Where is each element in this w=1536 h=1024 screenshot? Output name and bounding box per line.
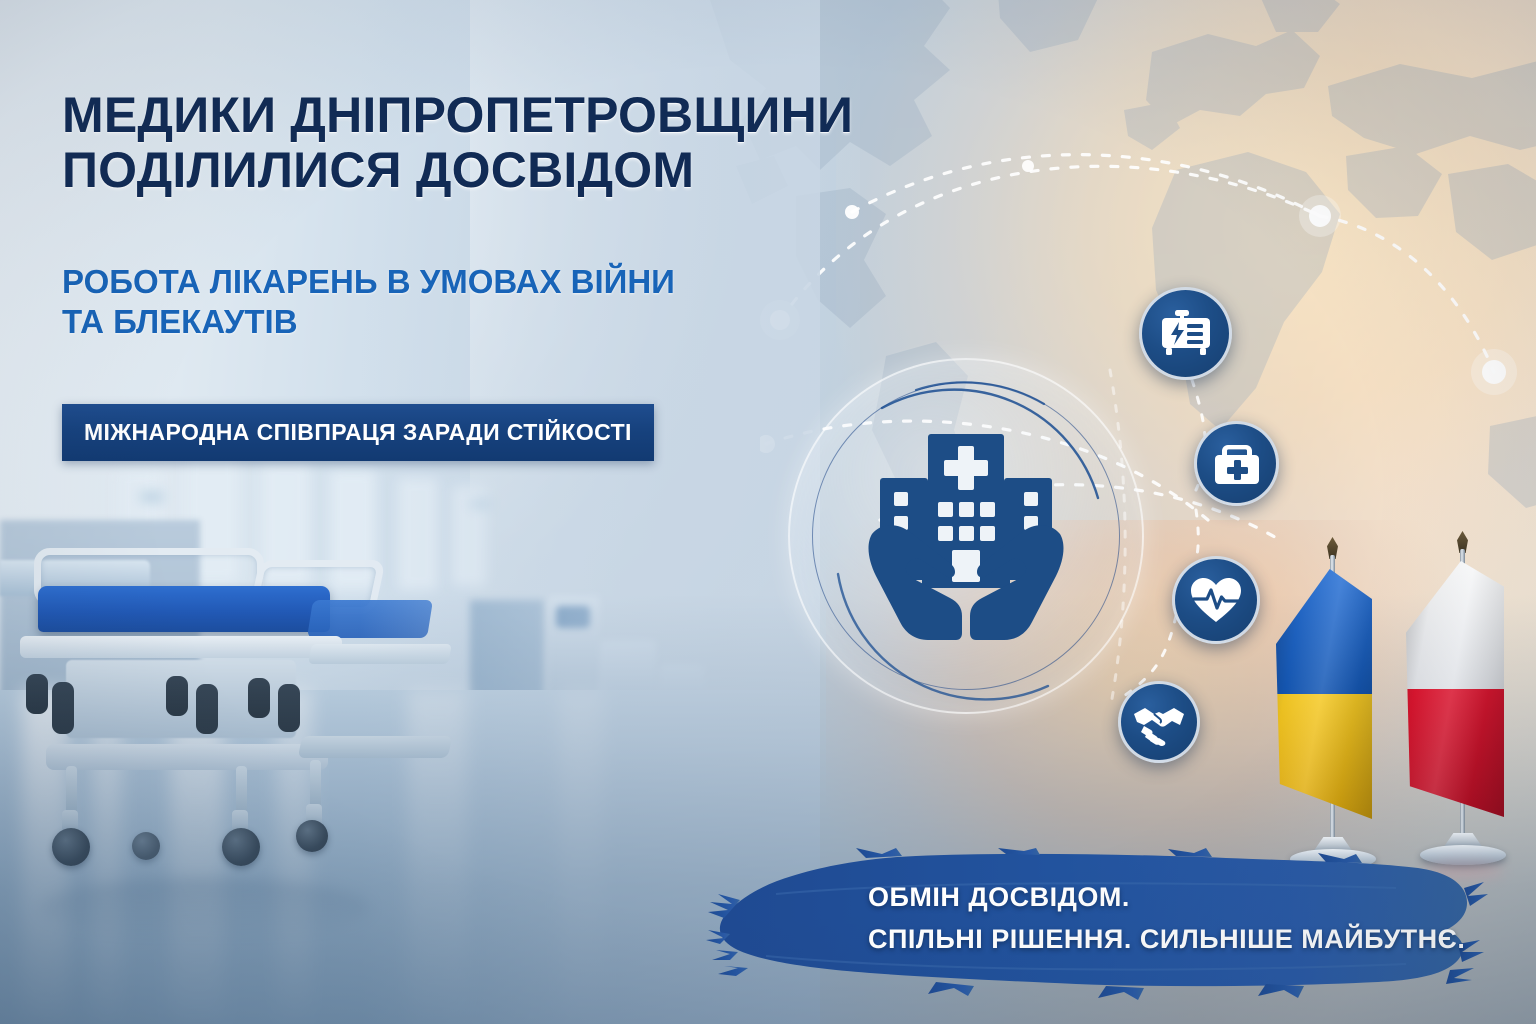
orbit-icon-generator bbox=[1139, 287, 1232, 380]
hospital-building-in-caring-hands-icon bbox=[866, 416, 1066, 646]
power-generator-icon bbox=[1157, 305, 1215, 363]
flag-ukraine-cloth bbox=[1276, 569, 1372, 819]
orbit-icon-medkit bbox=[1194, 421, 1279, 506]
orbit-icon-heartbeat bbox=[1172, 556, 1260, 644]
page-title: МЕДИКИ ДНІПРОПЕТРОВЩИНИ ПОДІЛИЛИСЯ ДОСВІ… bbox=[62, 88, 942, 198]
footer-slogan: ОБМІН ДОСВІДОМ. СПІЛЬНІ РІШЕННЯ. СИЛЬНІШ… bbox=[868, 876, 1488, 960]
flag-poland-cloth bbox=[1406, 561, 1504, 817]
heart-pulse-icon bbox=[1188, 572, 1244, 628]
orbit-icon-handshake bbox=[1118, 681, 1200, 763]
handshake-icon bbox=[1132, 695, 1186, 749]
medical-bag-icon bbox=[1210, 437, 1264, 491]
page-subtitle: РОБОТА ЛІКАРЕНЬ В УМОВАХ ВІЙНИ ТА БЛЕКАУ… bbox=[62, 262, 822, 341]
status-badge-label: МІЖНАРОДНА СПІВПРАЦЯ ЗАРАДИ СТІЙКОСТІ bbox=[84, 419, 632, 446]
poster-canvas: МЕДИКИ ДНІПРОПЕТРОВЩИНИ ПОДІЛИЛИСЯ ДОСВІ… bbox=[0, 0, 1536, 1024]
flags-group bbox=[1270, 525, 1536, 890]
hospital-in-hands-emblem bbox=[788, 358, 1144, 714]
status-badge: МІЖНАРОДНА СПІВПРАЦЯ ЗАРАДИ СТІЙКОСТІ bbox=[62, 404, 654, 461]
